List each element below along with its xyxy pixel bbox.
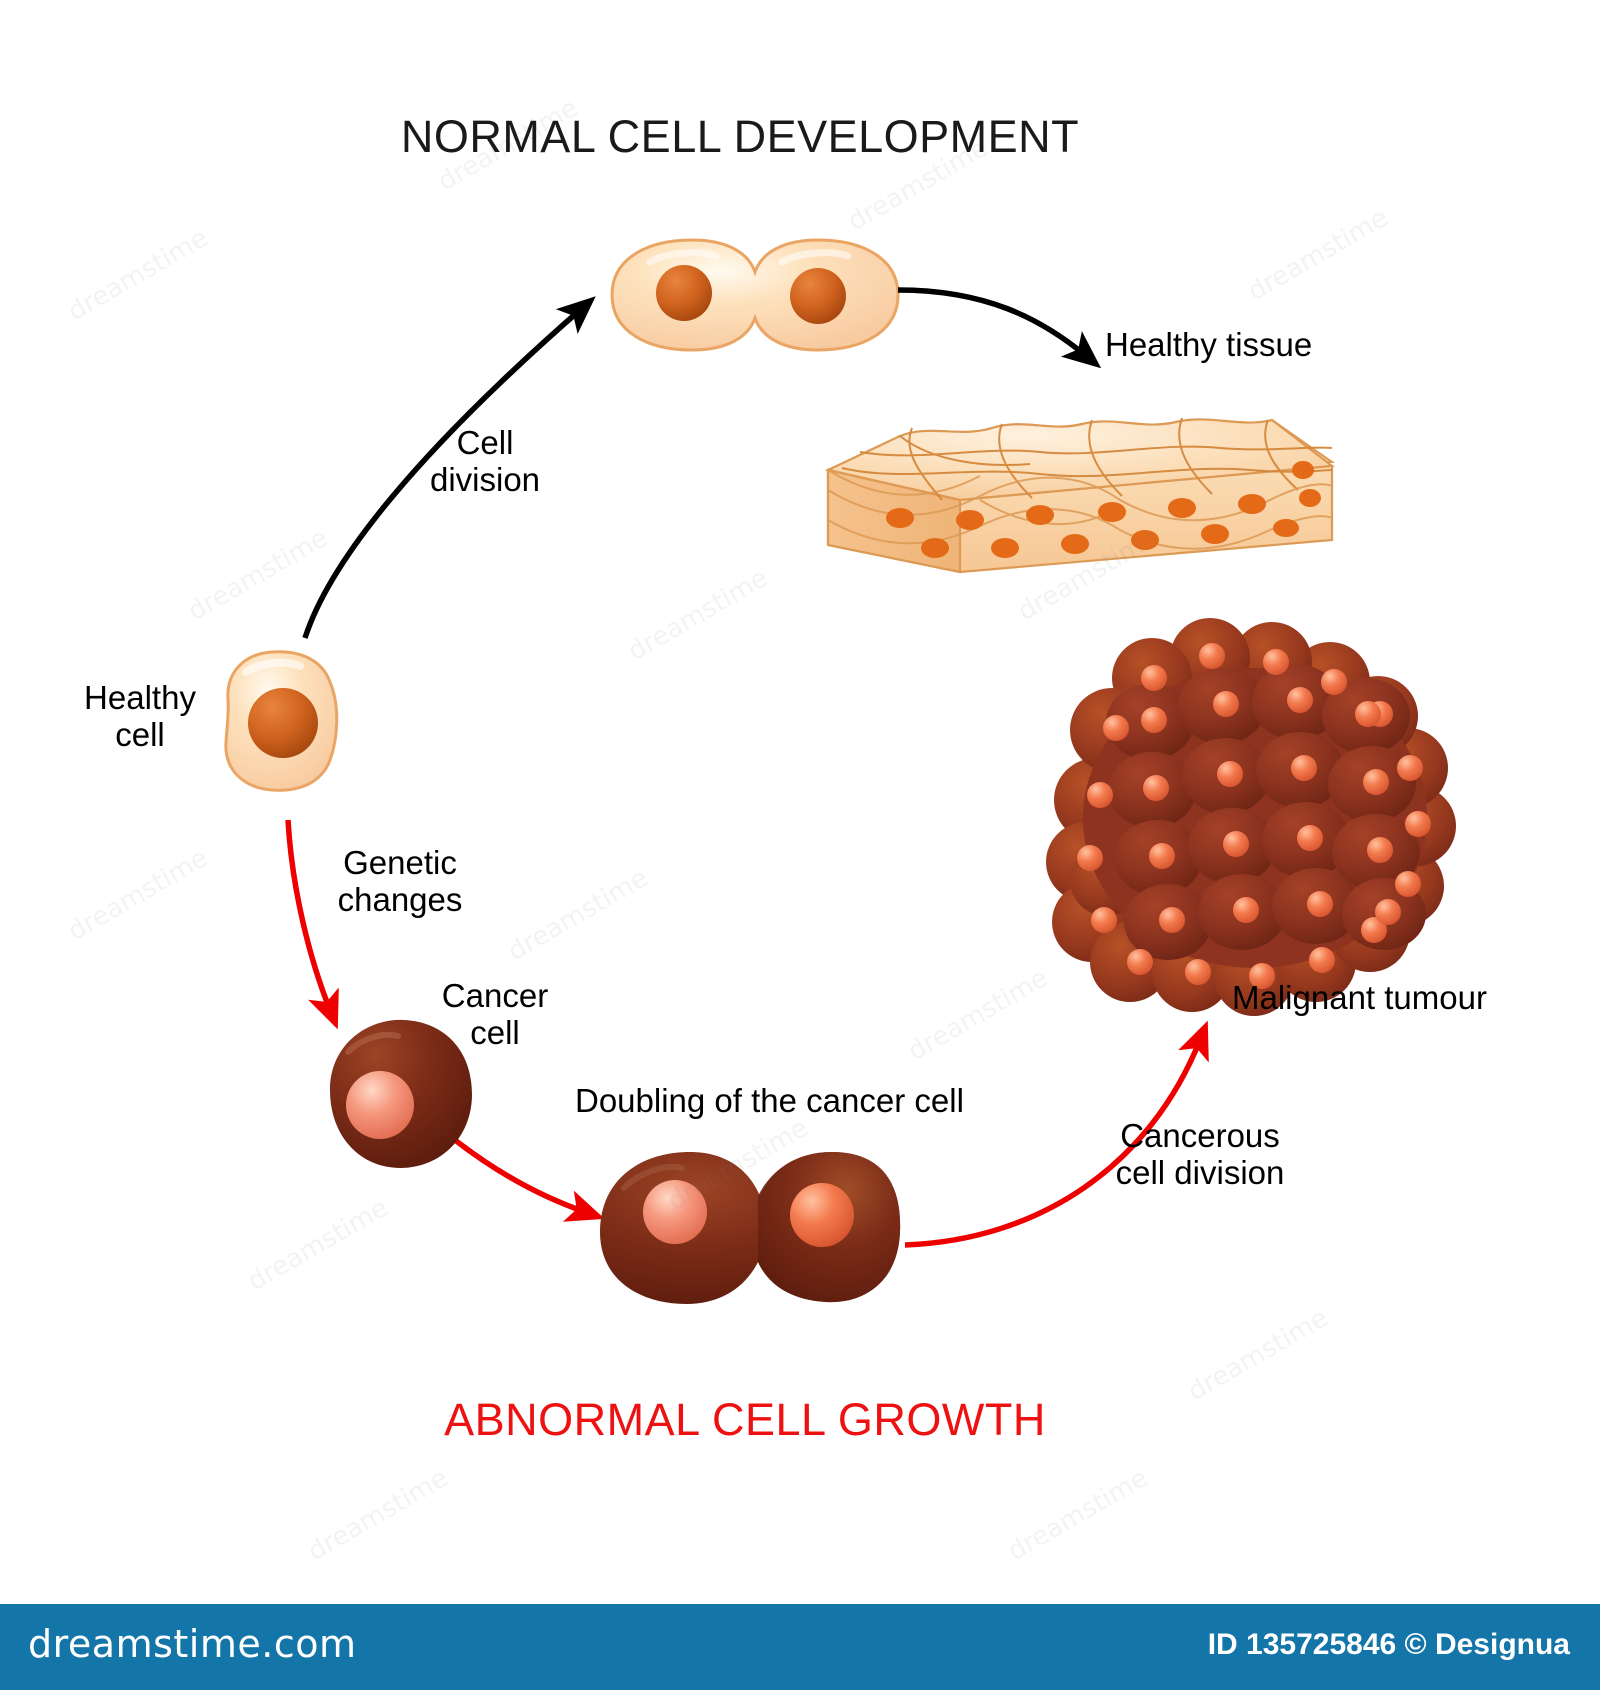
page-title-abnormal-cell-growth: ABNORMAL CELL GROWTH <box>0 1395 1490 1445</box>
arrow-healthy-tissue <box>898 290 1085 355</box>
label-malignant-tumour: Malignant tumour <box>1232 980 1487 1017</box>
label-healthy-tissue: Healthy tissue <box>1105 327 1312 364</box>
label-cell-division: Cell division <box>395 425 575 499</box>
nucleus <box>790 1183 854 1247</box>
dreamstime-logo[interactable]: dreamstime.com <box>28 1622 356 1666</box>
nucleus <box>790 268 846 324</box>
nucleus <box>656 265 712 321</box>
label-cancerous-cell-division: Cancerous cell division <box>1105 1118 1295 1192</box>
page-title-normal-cell-development: NORMAL CELL DEVELOPMENT <box>0 112 1480 162</box>
nucleus <box>643 1180 707 1244</box>
label-healthy-cell: Healthy cell <box>55 680 225 754</box>
malignant-tumour-figure <box>1046 618 1456 1016</box>
illustration-canvas: dreamstime dreamstime dreamstime dreamst… <box>0 0 1600 1690</box>
nucleus <box>248 688 318 758</box>
doubling-cancer-cells-figure <box>600 1152 900 1304</box>
label-doubling-of-the-cancer-cell: Doubling of the cancer cell <box>575 1083 964 1120</box>
healthy-tissue-block <box>828 418 1332 572</box>
dividing-healthy-cells-figure <box>612 240 898 350</box>
label-cancer-cell: Cancer cell <box>425 978 565 1052</box>
nucleus <box>346 1071 414 1139</box>
image-id-credit: ID 135725846 © Designua <box>1208 1628 1570 1662</box>
arrow-doubling <box>455 1140 585 1212</box>
healthy-cell-figure <box>226 652 337 791</box>
label-genetic-changes: Genetic changes <box>310 845 490 919</box>
